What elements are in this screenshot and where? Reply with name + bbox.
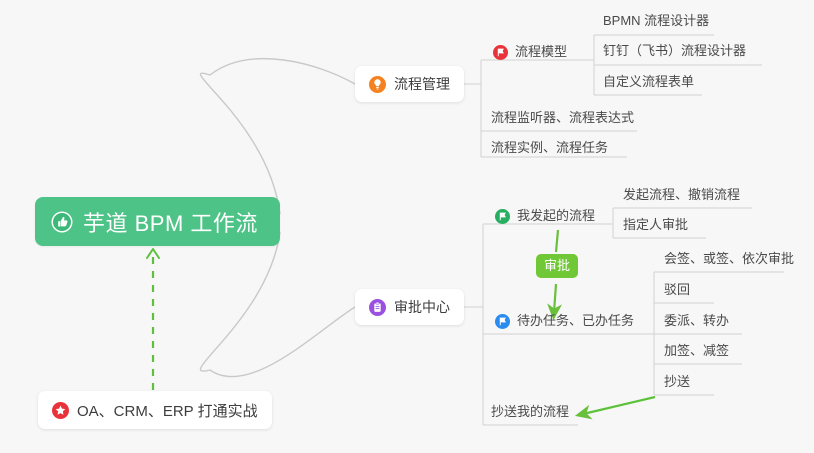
node-label-process-model: 流程模型: [515, 44, 567, 60]
node-label-process-instance-task: 流程实例、流程任务: [491, 140, 608, 156]
node-label-dingtalk-feishu-designer: 钉钉（飞书）流程设计器: [603, 43, 746, 59]
node-label-delegate-transfer: 委派、转办: [664, 313, 729, 329]
link-root-to-approval: [200, 232, 355, 377]
node-dingtalk-feishu-designer[interactable]: 钉钉（飞书）流程设计器: [603, 43, 746, 64]
branch-node-process-management[interactable]: 流程管理: [355, 66, 464, 102]
root-node[interactable]: 芋道 BPM 工作流: [35, 197, 280, 246]
approval-badge[interactable]: 审批: [536, 254, 578, 278]
node-delegate-transfer[interactable]: 委派、转办: [664, 313, 729, 334]
approval-badge-label: 审批: [544, 258, 570, 273]
node-custom-process-form[interactable]: 自定义流程表单: [603, 74, 694, 95]
link-root-to-process: [200, 59, 355, 214]
node-label-countersign-orsign-sequential: 会签、或签、依次审批: [664, 251, 794, 267]
flag-icon: [495, 314, 510, 329]
flag-icon: [495, 209, 510, 224]
node-label-process-listener-expression: 流程监听器、流程表达式: [491, 110, 634, 126]
branch-node-approval-center[interactable]: 审批中心: [355, 289, 464, 325]
node-countersign-orsign-sequential[interactable]: 会签、或签、依次审批: [664, 251, 794, 272]
footer-node-oa-crm-erp[interactable]: OA、CRM、ERP 打通实战: [38, 391, 272, 429]
arrow-cc-to-my-cc-process: [583, 397, 655, 414]
node-todo-done-tasks[interactable]: 待办任务、已办任务: [495, 313, 634, 334]
node-label-assignee-approval: 指定人审批: [623, 217, 688, 233]
node-assignee-approval[interactable]: 指定人审批: [623, 217, 688, 238]
node-label-todo-done-tasks: 待办任务、已办任务: [517, 313, 634, 329]
node-label-cc: 抄送: [664, 374, 690, 390]
thumbs-up-icon: [51, 211, 73, 233]
node-label-reject: 驳回: [664, 282, 690, 298]
mindmap-canvas: 芋道 BPM 工作流 流程管理 流程模型 BPMN 流程设计器 钉钉（飞书）流程…: [0, 0, 814, 453]
node-label-add-remove-sign: 加签、减签: [664, 343, 729, 359]
flag-icon: [493, 45, 508, 60]
node-label-bpmn-designer: BPMN 流程设计器: [603, 13, 709, 29]
footer-node-label: OA、CRM、ERP 打通实战: [77, 400, 258, 421]
node-label-cc-to-me-process: 抄送我的流程: [491, 404, 569, 420]
arrow-approval-flow-top: [556, 230, 558, 252]
node-cc-to-me-process[interactable]: 抄送我的流程: [491, 404, 569, 425]
node-label-start-cancel-process: 发起流程、撤销流程: [623, 187, 740, 203]
node-process-instance-task[interactable]: 流程实例、流程任务: [491, 140, 608, 161]
node-add-remove-sign[interactable]: 加签、减签: [664, 343, 729, 364]
node-reject[interactable]: 驳回: [664, 282, 690, 303]
node-my-initiated-process[interactable]: 我发起的流程: [495, 208, 595, 229]
node-start-cancel-process[interactable]: 发起流程、撤销流程: [623, 187, 740, 208]
node-cc[interactable]: 抄送: [664, 374, 690, 395]
arrow-approval-flow-bottom: [554, 284, 556, 312]
arrowhead-oa-to-root: [147, 249, 159, 258]
lightbulb-icon: [369, 76, 386, 93]
root-node-label: 芋道 BPM 工作流: [83, 206, 258, 238]
branch-label-process-management: 流程管理: [394, 74, 450, 94]
node-process-listener-expression[interactable]: 流程监听器、流程表达式: [491, 110, 634, 131]
node-label-custom-process-form: 自定义流程表单: [603, 74, 694, 90]
star-icon: [52, 402, 69, 419]
clipboard-icon: [369, 299, 386, 316]
node-process-model[interactable]: 流程模型: [493, 44, 567, 65]
node-bpmn-designer[interactable]: BPMN 流程设计器: [603, 13, 709, 34]
branch-label-approval-center: 审批中心: [394, 297, 450, 317]
node-label-my-initiated-process: 我发起的流程: [517, 208, 595, 224]
